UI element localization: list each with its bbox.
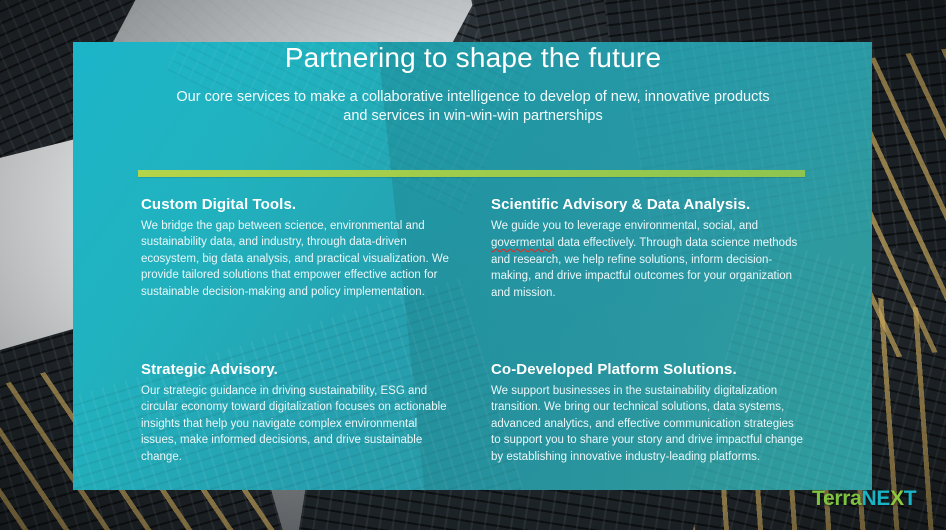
card-heading: Scientific Advisory & Data Analysis. bbox=[491, 196, 806, 213]
card-body: We guide you to leverage environmental, … bbox=[491, 218, 806, 302]
page-subtitle: Our core services to make a collaborativ… bbox=[173, 88, 773, 126]
slide-header: Partnering to shape the future Our core … bbox=[0, 42, 946, 126]
logo-text-t: T bbox=[904, 487, 917, 510]
card-body-text-before: We guide you to leverage environmental, … bbox=[491, 220, 758, 232]
card-heading: Custom Digital Tools. bbox=[141, 196, 450, 213]
page-title: Partnering to shape the future bbox=[0, 42, 946, 74]
logo-text-ne: NE bbox=[861, 487, 890, 510]
logo-text-x: X bbox=[890, 487, 904, 510]
services-grid: Custom Digital Tools. We bridge the gap … bbox=[141, 196, 806, 465]
card-heading: Strategic Advisory. bbox=[141, 361, 450, 378]
terranext-logo: TerraNEXT bbox=[812, 488, 916, 509]
presentation-slide: Partnering to shape the future Our core … bbox=[0, 0, 946, 530]
card-heading: Co-Developed Platform Solutions. bbox=[491, 361, 806, 378]
card-body: Our strategic guidance in driving sustai… bbox=[141, 383, 450, 465]
misspelled-word: govermental bbox=[491, 237, 554, 249]
service-card-co-developed-platform-solutions: Co-Developed Platform Solutions. We supp… bbox=[491, 361, 806, 465]
service-card-custom-digital-tools: Custom Digital Tools. We bridge the gap … bbox=[141, 196, 450, 302]
card-body: We bridge the gap between science, envir… bbox=[141, 218, 450, 300]
green-divider bbox=[138, 170, 805, 177]
card-body: We support businesses in the sustainabil… bbox=[491, 383, 806, 465]
service-card-strategic-advisory: Strategic Advisory. Our strategic guidan… bbox=[141, 361, 450, 465]
service-card-scientific-advisory: Scientific Advisory & Data Analysis. We … bbox=[491, 196, 806, 302]
logo-text-terra: Terra bbox=[812, 487, 861, 510]
